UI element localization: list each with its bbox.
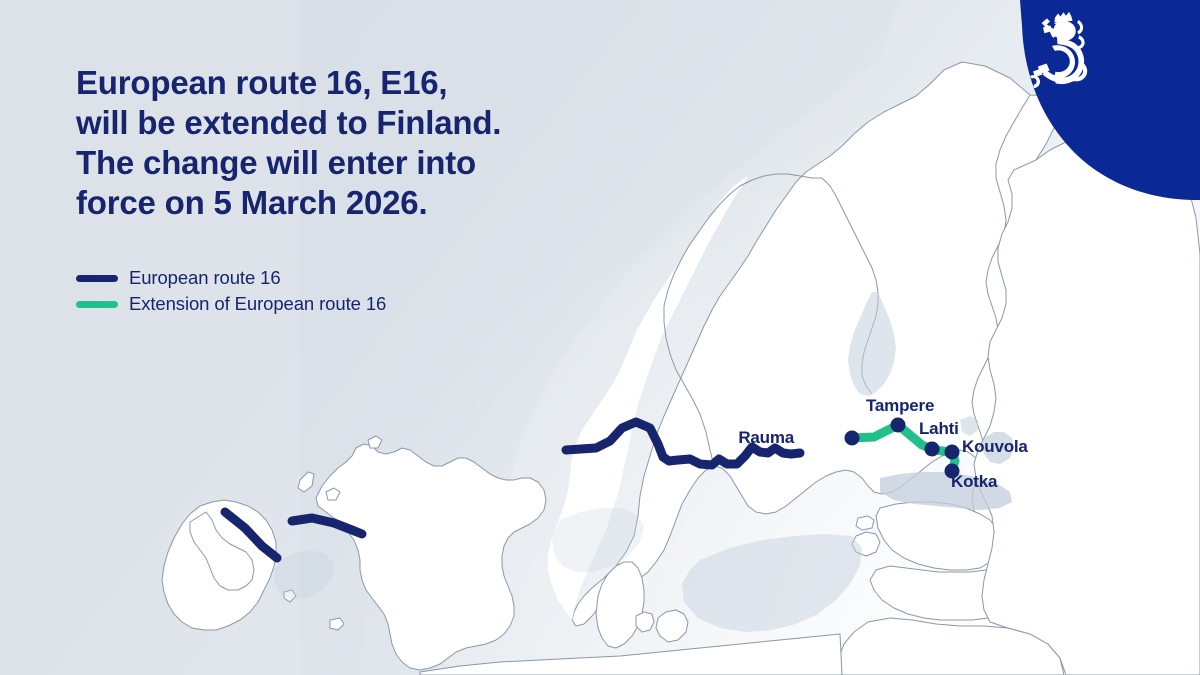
city-dot-lahti: [925, 442, 940, 457]
legend-label-european-route-16: European route 16: [129, 267, 281, 289]
map-legend: European route 16 Extension of European …: [76, 265, 386, 317]
city-label-lahti: Lahti: [919, 419, 959, 439]
city-dot-tampere: [891, 418, 906, 433]
page-title: European route 16, E16, will be extended…: [76, 63, 596, 223]
city-label-tampere: Tampere: [866, 396, 934, 416]
legend-item-european-route-16: European route 16: [76, 265, 386, 291]
land-estonia: [876, 502, 998, 570]
title-line-2: will be extended to Finland.: [76, 103, 596, 143]
finland-coat-of-arms-emblem: [1000, 0, 1200, 200]
city-label-kouvola: Kouvola: [962, 437, 1028, 457]
title-line-1: European route 16, E16,: [76, 63, 596, 103]
title-line-3: The change will enter into: [76, 143, 596, 183]
title-line-4: force on 5 March 2026.: [76, 183, 596, 223]
city-dot-kouvola: [945, 445, 960, 460]
land-denmark-zealand: [656, 610, 688, 642]
city-dot-rauma: [845, 431, 860, 446]
legend-item-extension: Extension of European route 16: [76, 291, 386, 317]
infographic-root: Rauma Tampere Lahti Kouvola Kotka Europe…: [0, 0, 1200, 675]
navy-line-swatch: [76, 275, 118, 282]
legend-label-extension: Extension of European route 16: [129, 293, 386, 315]
baltic-sea-proper: [682, 534, 862, 632]
land-denmark-fyn: [636, 612, 654, 632]
land-denmark: [596, 562, 644, 648]
city-label-kotka: Kotka: [951, 472, 997, 492]
city-label-rauma: Rauma: [738, 428, 794, 448]
land-ireland: [162, 500, 276, 630]
green-line-swatch: [76, 301, 118, 308]
land-estonia-hiiumaa: [856, 516, 874, 530]
